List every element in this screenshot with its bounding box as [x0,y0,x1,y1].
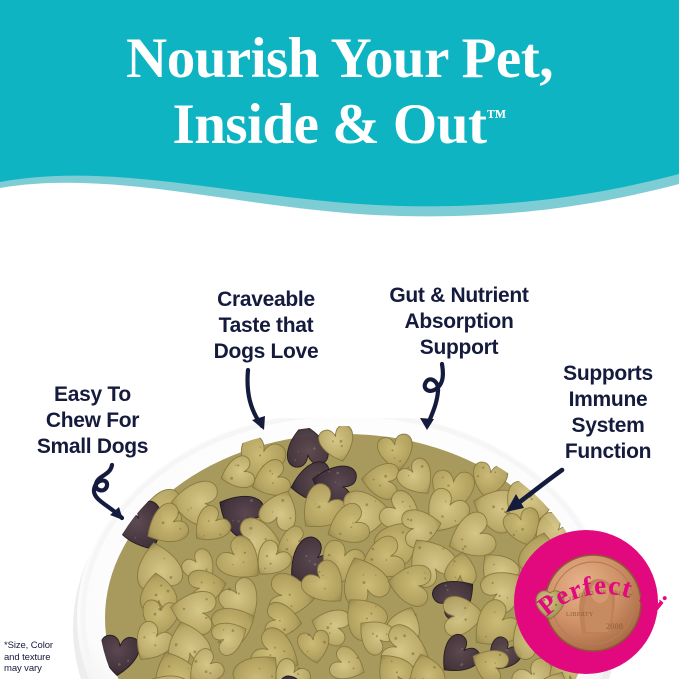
pet-food-infographic: Nourish Your Pet, Inside & Out™ Easy To … [0,0,679,679]
header-banner: Nourish Your Pet, Inside & Out™ [0,0,679,240]
coin-liberty: LIBERTY [566,612,594,618]
callout-label-immune-support: Supports Immune System Function [540,361,676,465]
perfect-size-badge: IN GOD WE TRUST LIBERTY 2008 Perfect Siz… [494,506,679,679]
callout-label-craveable-taste: Craveable Taste that Dogs Love [186,287,346,365]
disclaimer-text: *Size, Color and texture may vary [4,640,94,675]
curve-down-arrow [236,368,296,440]
coin-year: 2008 [606,622,623,631]
banner-wave-main [0,0,679,206]
callout-label-gut-nutrient: Gut & Nutrient Absorption Support [366,283,552,361]
loop-down-arrow [408,362,464,442]
curl-down-right-arrow [70,462,150,542]
callout-label-easy-to-chew: Easy To Chew For Small Dogs [10,382,175,460]
